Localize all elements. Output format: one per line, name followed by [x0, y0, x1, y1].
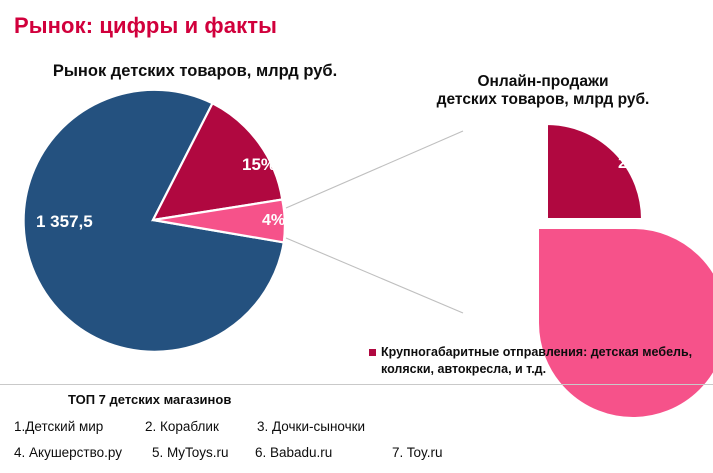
store-item-3: 3. Дочки-сыночки [257, 419, 365, 434]
right-pie-slice-main[interactable] [538, 228, 713, 418]
store-item-1: 1.Детский мир [14, 419, 103, 434]
legend-label: Крупногабаритные отправления: детская ме… [381, 344, 705, 378]
store-item-4: 4. Акушерство.ру [14, 445, 122, 460]
store-item-6: 6. Babadu.ru [255, 445, 332, 460]
left-pie-label-pink: 4% [262, 212, 285, 230]
top-stores-row: 1.Детский мир 2. Кораблик 3. Дочки-сыноч… [0, 419, 713, 443]
top-stores-section: ТОП 7 детских магазинов 1.Детский мир 2.… [0, 392, 713, 469]
left-chart-title: Рынок детских товаров, млрд руб. [0, 62, 390, 81]
right-pie-label-main: 52,2 [479, 239, 512, 259]
legend: Крупногабаритные отправления: детская ме… [369, 344, 705, 378]
slide-canvas: Рынок: цифры и факты Рынок детских товар… [0, 0, 713, 473]
top-stores-title: ТОП 7 детских магазинов [68, 392, 713, 407]
top-stores-row: 4. Акушерство.ру 5. MyToys.ru 6. Babadu.… [0, 445, 713, 469]
page-title: Рынок: цифры и факты [14, 13, 277, 39]
store-item-5: 5. MyToys.ru [152, 445, 229, 460]
divider [0, 384, 713, 385]
right-pie-label-exploded: 25% [618, 155, 650, 173]
right-chart-title-line2: детских товаров, млрд руб. [398, 91, 688, 109]
legend-marker-icon [369, 349, 376, 356]
right-chart-title: Онлайн-продажи детских товаров, млрд руб… [398, 73, 688, 110]
right-chart-title-line1: Онлайн-продажи [398, 73, 688, 91]
left-pie-label-crimson: 15% [242, 155, 276, 175]
connector-lines [286, 131, 463, 313]
store-item-2: 2. Кораблик [145, 419, 219, 434]
store-item-7: 7. Toy.ru [392, 445, 443, 460]
left-pie-label-main: 1 357,5 [36, 212, 93, 232]
